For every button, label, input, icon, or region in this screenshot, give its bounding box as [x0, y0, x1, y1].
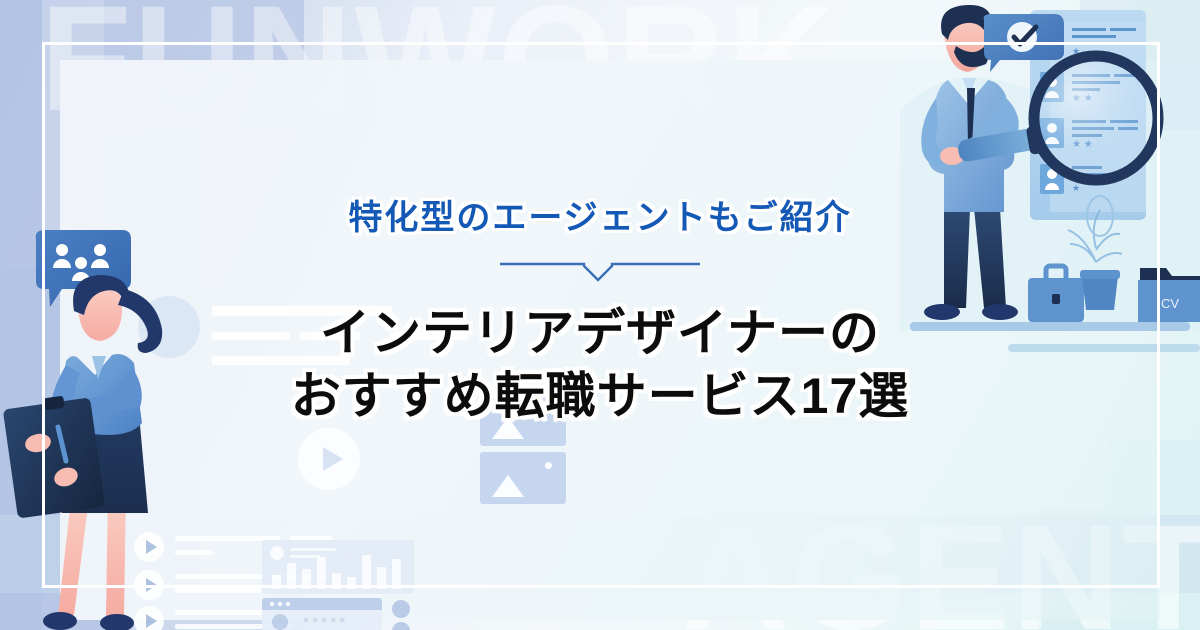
- title-line-1: インテリアデザイナーの: [220, 302, 980, 365]
- hero-text-block: 特化型のエージェントもご紹介 インテリアデザイナーの おすすめ転職サービス17選: [0, 0, 1200, 630]
- divider-chevron: [500, 256, 700, 282]
- hero-subtitle: 特化型のエージェントもご紹介: [348, 190, 851, 239]
- hero-canvas: FUNWORK AGENT: [0, 0, 1200, 630]
- page-title: インテリアデザイナーの おすすめ転職サービス17選: [220, 302, 980, 428]
- title-line-2: おすすめ転職サービス17選: [220, 365, 980, 428]
